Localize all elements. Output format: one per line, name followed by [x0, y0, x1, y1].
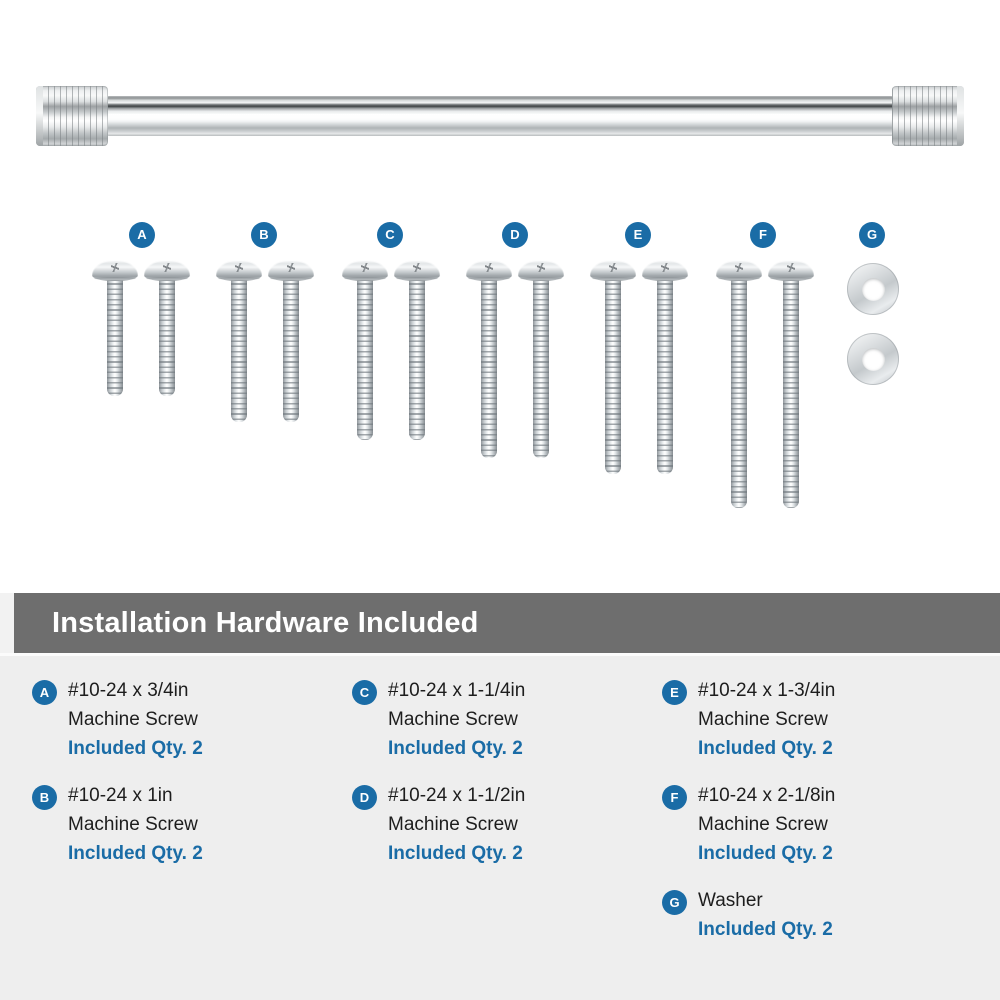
hardware-list-item-a: A#10-24 x 3/4inMachine ScrewIncluded Qty… [32, 666, 352, 771]
hardware-spec-label: #10-24 x 2-1/8in [698, 771, 1000, 810]
hardware-spec-label: #10-24 x 1-1/2in [388, 771, 662, 810]
screw-e [642, 260, 688, 474]
screw-head-phillips-icon [518, 260, 564, 281]
hardware-spec-label: #10-24 x 1-1/4in [388, 666, 662, 705]
screw-d [518, 260, 564, 458]
screw-head-phillips-icon [92, 260, 138, 281]
diagram-badge-g: G [859, 222, 885, 248]
hardware-type-label: Machine Screw [68, 705, 352, 734]
hardware-badge-d: D [352, 785, 377, 810]
page-title: Installation Hardware Included [14, 607, 479, 640]
diagram-badge-a: A [129, 222, 155, 248]
hardware-badge-g: G [662, 890, 687, 915]
diagram-badge-f: F [750, 222, 776, 248]
screw-head-phillips-icon [590, 260, 636, 281]
hardware-type-label: Machine Screw [68, 810, 352, 839]
hardware-list-item-d: D#10-24 x 1-1/2inMachine ScrewIncluded Q… [352, 771, 662, 876]
screw-threaded-shaft [481, 278, 497, 458]
screw-head-phillips-icon [466, 260, 512, 281]
screw-threaded-shaft [605, 278, 621, 474]
hardware-badge-c: C [352, 680, 377, 705]
panel-header-underline [0, 653, 1000, 656]
diagram-badge-d: D [502, 222, 528, 248]
screw-head-phillips-icon [144, 260, 190, 281]
screw-head-phillips-icon [716, 260, 762, 281]
screw-c [394, 260, 440, 440]
hardware-list-item-g: GWasherIncluded Qty. 2 [662, 876, 1000, 981]
hardware-spec-label: #10-24 x 3/4in [68, 666, 352, 705]
screw-threaded-shaft [783, 278, 799, 508]
screw-b [268, 260, 314, 422]
hardware-list-item-f: F#10-24 x 2-1/8inMachine ScrewIncluded Q… [662, 771, 1000, 876]
hardware-badge-e: E [662, 680, 687, 705]
screw-threaded-shaft [107, 278, 123, 396]
screw-e [590, 260, 636, 474]
hardware-type-label: Machine Screw [388, 705, 662, 734]
hardware-badge-a: A [32, 680, 57, 705]
end-cap-edge [36, 86, 43, 146]
hardware-quantity-label: Included Qty. 2 [698, 915, 1000, 944]
screw-head-phillips-icon [768, 260, 814, 281]
washer-hole [862, 278, 885, 301]
end-cap-edge [957, 86, 964, 146]
screw-head-phillips-icon [394, 260, 440, 281]
bar-tube [106, 96, 894, 136]
hardware-type-label: Machine Screw [388, 810, 662, 839]
screw-threaded-shaft [357, 278, 373, 440]
screw-threaded-shaft [283, 278, 299, 422]
screw-f [768, 260, 814, 508]
screw-a [144, 260, 190, 396]
hardware-type-label: Machine Screw [698, 810, 1000, 839]
hardware-spec-label: Washer [698, 876, 1000, 915]
screw-d [466, 260, 512, 458]
towel-bar-illustration [36, 86, 964, 148]
hardware-badge-f: F [662, 785, 687, 810]
hardware-spec-label: #10-24 x 1-3/4in [698, 666, 1000, 705]
screw-threaded-shaft [159, 278, 175, 396]
washer-g [847, 333, 899, 385]
screw-head-phillips-icon [216, 260, 262, 281]
screw-threaded-shaft [533, 278, 549, 458]
panel-header-bar: Installation Hardware Included [14, 593, 1000, 653]
screw-head-phillips-icon [268, 260, 314, 281]
installation-hardware-panel: Installation Hardware Included A#10-24 x… [0, 588, 1000, 1000]
diagram-badge-c: C [377, 222, 403, 248]
hardware-list: A#10-24 x 3/4inMachine ScrewIncluded Qty… [0, 666, 1000, 996]
hardware-list-item-e: E#10-24 x 1-3/4inMachine ScrewIncluded Q… [662, 666, 1000, 771]
screw-c [342, 260, 388, 440]
screw-head-phillips-icon [342, 260, 388, 281]
hardware-type-label: Machine Screw [698, 705, 1000, 734]
hardware-quantity-label: Included Qty. 2 [698, 734, 1000, 763]
diagram-badge-b: B [251, 222, 277, 248]
hardware-list-item-b: B#10-24 x 1inMachine ScrewIncluded Qty. … [32, 771, 352, 876]
hardware-quantity-label: Included Qty. 2 [68, 839, 352, 868]
hardware-quantity-label: Included Qty. 2 [388, 734, 662, 763]
washer-hole [862, 348, 885, 371]
screw-a [92, 260, 138, 396]
diagram-badge-e: E [625, 222, 651, 248]
product-diagram-area: ABCDEFG [0, 0, 1000, 588]
hardware-badge-b: B [32, 785, 57, 810]
hardware-spec-label: #10-24 x 1in [68, 771, 352, 810]
screw-head-phillips-icon [642, 260, 688, 281]
screw-f [716, 260, 762, 508]
hardware-quantity-label: Included Qty. 2 [68, 734, 352, 763]
header-left-strip [0, 593, 14, 653]
screw-threaded-shaft [657, 278, 673, 474]
screw-threaded-shaft [731, 278, 747, 508]
bar-end-cap-left [36, 86, 108, 146]
screw-threaded-shaft [409, 278, 425, 440]
hardware-quantity-label: Included Qty. 2 [388, 839, 662, 868]
screw-b [216, 260, 262, 422]
hardware-list-item-c: C#10-24 x 1-1/4inMachine ScrewIncluded Q… [352, 666, 662, 771]
product-hardware-infographic: ABCDEFG Installation Hardware Included A… [0, 0, 1000, 1000]
washer-g [847, 263, 899, 315]
hardware-quantity-label: Included Qty. 2 [698, 839, 1000, 868]
bar-end-cap-right [892, 86, 964, 146]
screw-threaded-shaft [231, 278, 247, 422]
